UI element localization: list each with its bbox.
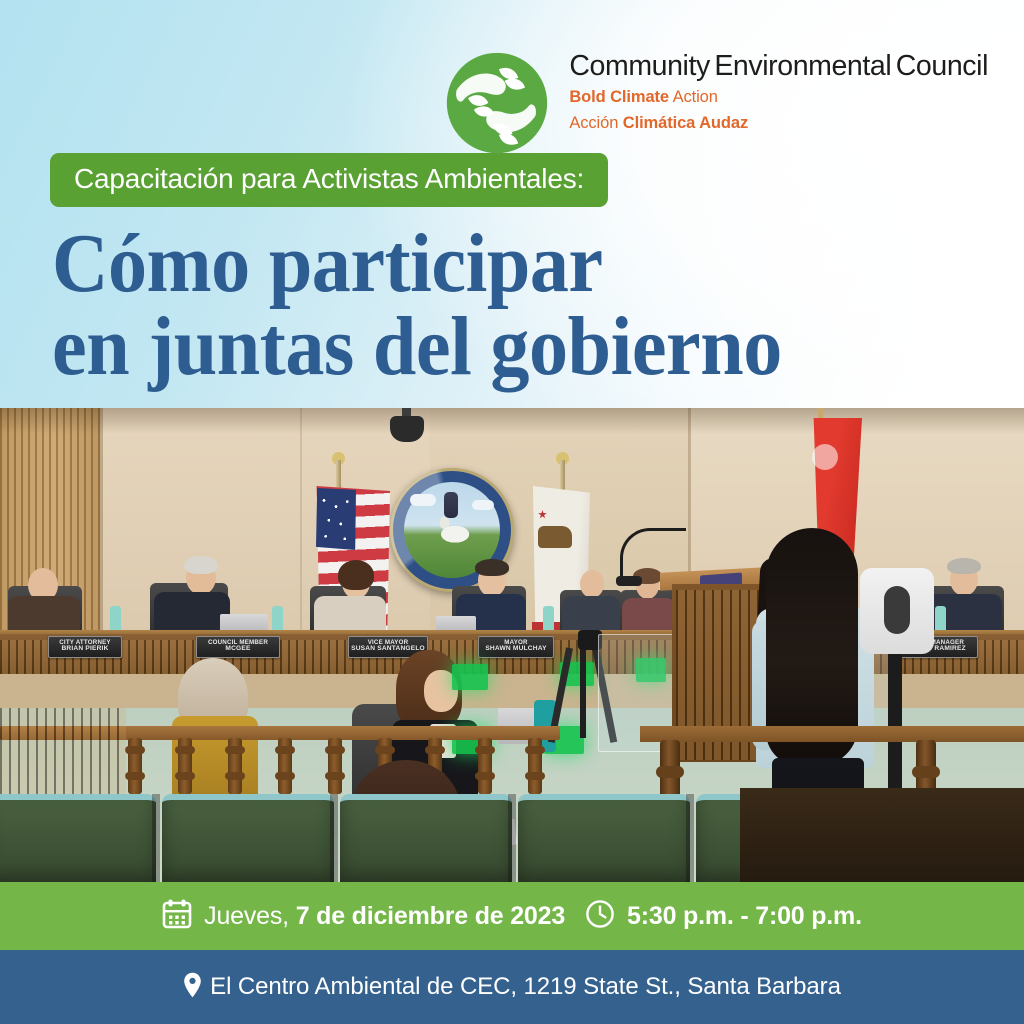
tagline-es-light: Acción [569, 114, 622, 132]
rail-baluster [128, 738, 142, 794]
audience-seat [0, 794, 156, 882]
audience-seat [340, 794, 512, 882]
sanitizer-window [884, 586, 910, 634]
rail-baluster [478, 738, 492, 794]
seat-divider [686, 794, 694, 882]
rail-baluster [328, 738, 342, 794]
event-location-bar: El Centro Ambiental de CEC, 1219 State S… [0, 950, 1024, 1024]
event-address-label: El Centro Ambiental de CEC, 1219 State S… [210, 973, 841, 1001]
microphone-arm [620, 528, 686, 580]
subtitle-badge: Capacitación para Activistas Ambientales… [50, 153, 608, 207]
event-flyer: Community Environmental Council Bold Cli… [0, 0, 1024, 1024]
foreground-wood-panel [740, 788, 1024, 882]
side-table-top [640, 726, 1024, 742]
event-date-label: 7 de diciembre de 2023 [296, 902, 565, 930]
wall-slats-lower-left [0, 708, 126, 804]
event-date-group: Jueves, 7 de diciembre de 2023 [162, 898, 565, 934]
microphone-base [616, 576, 642, 586]
nameplate-name: SHAWN MULCHAY [479, 646, 553, 653]
rail-baluster [278, 738, 292, 794]
title-line-2: en juntas del gobierno [52, 305, 917, 388]
event-time-text: 5:30 p.m. - 7:00 p.m. [627, 902, 862, 931]
logo-wordmark: Community Environmental Council Bold Cli… [569, 48, 988, 134]
city-seal-rider [444, 492, 458, 518]
green-monitor [452, 664, 488, 690]
event-time-label: 5:30 p.m. - 7:00 p.m. [627, 902, 862, 930]
hands-leaf-circle-logo-icon [439, 48, 555, 158]
event-date-text: Jueves, 7 de diciembre de 2023 [204, 902, 565, 931]
ceiling-shadow [0, 408, 1024, 434]
map-pin-icon [183, 972, 202, 1003]
ceiling-camera-icon [390, 416, 424, 442]
logo-name-line-2: Environmental [714, 50, 891, 82]
calendar-icon [162, 898, 192, 934]
wall-seam-1 [100, 408, 103, 658]
person-hair [184, 556, 218, 574]
city-seal-cloud-right [472, 500, 494, 510]
event-day-label: Jueves, [204, 902, 296, 930]
red-flag-emblem [812, 444, 838, 470]
tagline-en-light: Action [669, 88, 718, 106]
person-hair [475, 559, 509, 576]
nameplate-name: MCGEE [197, 646, 279, 653]
california-flag-bear [538, 526, 572, 548]
council-meeting-photo: CITY ATTORNEY BRIAN PIERIK COUNCIL MEMBE… [0, 408, 1024, 882]
person-head [580, 570, 604, 598]
nameplate-council-member: COUNCIL MEMBER MCGEE [196, 636, 280, 658]
header-section: Community Environmental Council Bold Cli… [0, 0, 1024, 408]
title-line-1: Cómo participar [52, 217, 603, 310]
seat-divider [330, 794, 338, 882]
rail-baluster [178, 738, 192, 794]
person-hair [338, 560, 374, 590]
page-title: Cómo participar en juntas del gobierno [52, 222, 917, 388]
tagline-es-bold: Climática Audaz [623, 114, 748, 132]
audience-seat [518, 794, 690, 882]
person-hair [947, 558, 981, 574]
rail-baluster [528, 738, 542, 794]
logo-name-line-1: Community [569, 50, 710, 82]
wall-seam-2 [300, 408, 302, 658]
organization-logo: Community Environmental Council Bold Cli… [439, 48, 988, 158]
tripod-leg [580, 648, 586, 738]
tagline-en-bold: Bold Climate [569, 88, 669, 106]
logo-tagline-spanish: Acción Climática Audaz [569, 114, 988, 133]
seat-divider [508, 794, 516, 882]
clock-icon [585, 899, 615, 934]
nameplate-city-attorney: CITY ATTORNEY BRIAN PIERIK [48, 636, 122, 658]
audience-seat [162, 794, 334, 882]
nameplate-mayor: MAYOR SHAWN MULCHAY [478, 636, 554, 658]
rail-baluster [228, 738, 242, 794]
seat-divider [152, 794, 160, 882]
event-time-group: 5:30 p.m. - 7:00 p.m. [585, 899, 862, 934]
logo-tagline-english: Bold Climate Action [569, 88, 988, 107]
logo-name-line-3: Council [896, 50, 988, 82]
event-datetime-bar: Jueves, 7 de diciembre de 2023 5:30 p.m.… [0, 882, 1024, 950]
us-flag-canton [316, 488, 356, 550]
nameplate-name: BRIAN PIERIK [49, 646, 121, 653]
